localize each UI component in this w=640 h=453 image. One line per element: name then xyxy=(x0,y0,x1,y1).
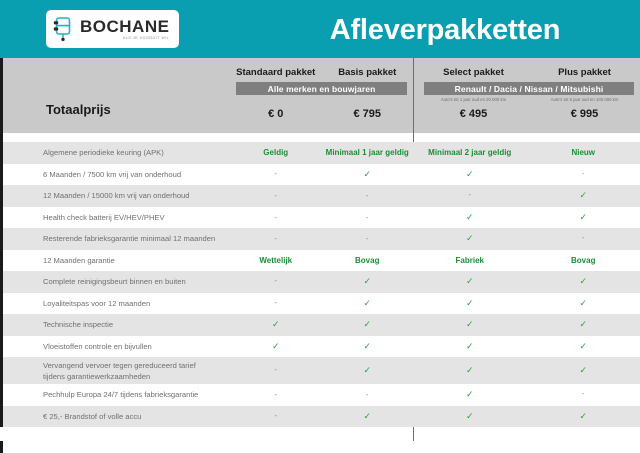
cell-plus: ✓ xyxy=(527,190,640,201)
table-row: Loyaliteitspas voor 12 maanden-✓✓✓ xyxy=(0,293,640,315)
left-edge-accent xyxy=(0,314,3,336)
package-subs-right: Auto's tot 1 jaar oud en 20.000 km Auto'… xyxy=(418,97,640,102)
bochane-logo-icon xyxy=(53,16,76,42)
package-name-standaard: Standaard pakket xyxy=(230,67,322,78)
table-row: 12 Maanden / 15000 km vrij van onderhoud… xyxy=(0,185,640,207)
cell-select: ✓ xyxy=(413,341,527,352)
cell-group: -✓ xyxy=(230,411,413,422)
table-row: Resterende fabrieksgarantie minimaal 12 … xyxy=(0,228,640,250)
cell-standaard: - xyxy=(230,234,322,243)
cell-select: ✓ xyxy=(413,212,527,223)
cell-basis: Bovag xyxy=(322,256,414,265)
logo-wordmark: BOCHANE xyxy=(80,18,169,35)
package-group-left: Standaard pakket Basis pakket Alle merke… xyxy=(230,58,413,133)
cell-group: ✓✓ xyxy=(413,212,640,223)
cell-group: WettelijkBovag xyxy=(230,256,413,265)
cell-select: ✓ xyxy=(413,319,527,330)
package-names-left: Standaard pakket Basis pakket xyxy=(230,67,413,78)
left-edge-accent xyxy=(0,336,3,358)
cell-group: ✓✓ xyxy=(413,276,640,287)
cell-group: ✓✓ xyxy=(413,411,640,422)
table-row: Vloeistoffen controle en bijvullen✓✓✓✓ xyxy=(0,336,640,358)
cell-group: -✓ xyxy=(230,365,413,376)
cell-standaard: - xyxy=(230,390,322,399)
cell-group: -- xyxy=(230,234,413,243)
feature-label: Resterende fabrieksgarantie minimaal 12 … xyxy=(0,233,230,244)
table-row: € 25,- Brandstof of volle accu-✓✓✓ xyxy=(0,406,640,428)
cell-group: ✓✓ xyxy=(230,341,413,352)
page-title: Afleverpakketten xyxy=(270,11,620,49)
left-edge-accent xyxy=(0,228,3,250)
cell-standaard: - xyxy=(230,298,322,309)
cell-standaard: Wettelijk xyxy=(230,256,322,265)
feature-label: Loyaliteitspas voor 12 maanden xyxy=(0,298,230,309)
cell-standaard: ✓ xyxy=(230,341,322,352)
left-edge-accent xyxy=(0,185,3,207)
package-badge-right: Renault / Dacia / Nissan / Mitsubishi xyxy=(424,82,634,95)
left-edge-accent xyxy=(0,293,3,315)
table-row: 6 Maanden / 7500 km vrij van onderhoud-✓… xyxy=(0,164,640,186)
cell-group: ✓✓ xyxy=(413,365,640,376)
cell-select: Minimaal 2 jaar geldig xyxy=(413,148,527,157)
feature-label: Vloeistoffen controle en bijvullen xyxy=(0,341,230,352)
cell-basis: - xyxy=(322,191,414,200)
cell-plus: Nieuw xyxy=(527,148,640,157)
package-prices-right: € 495 € 995 xyxy=(418,108,640,120)
table-row: Complete reinigingsbeurt binnen en buite… xyxy=(0,271,640,293)
feature-label: 6 Maanden / 7500 km vrij van onderhoud xyxy=(0,169,230,180)
cell-basis: ✓ xyxy=(322,341,414,352)
cell-basis: ✓ xyxy=(322,319,414,330)
cell-plus: - xyxy=(527,233,640,244)
feature-label: 12 Maanden / 15000 km vrij van onderhoud xyxy=(0,190,230,201)
feature-label: € 25,- Brandstof of volle accu xyxy=(0,411,230,422)
cell-standaard: - xyxy=(230,213,322,222)
package-price-plus: € 995 xyxy=(529,108,640,120)
cell-basis: ✓ xyxy=(322,169,414,180)
cell-standaard: - xyxy=(230,191,322,200)
feature-label: Pechhulp Europa 24/7 tijdens fabrieksgar… xyxy=(0,389,230,400)
header-table-spacer xyxy=(0,133,640,142)
cell-standaard: Geldig xyxy=(230,148,322,157)
left-edge-accent xyxy=(0,142,3,164)
package-price-standaard: € 0 xyxy=(230,108,322,120)
features-table: Algemene periodieke keuring (APK)GeldigM… xyxy=(0,142,640,427)
total-price-label: Totaalprijs xyxy=(46,102,111,117)
bochane-logo[interactable]: BOCHANE ALS JE VOORUIT WIL xyxy=(46,10,179,48)
cell-select: ✓ xyxy=(413,298,527,309)
cell-basis: ✓ xyxy=(322,298,414,309)
left-edge-accent xyxy=(0,441,3,453)
feature-label: 12 Maanden garantie xyxy=(0,255,230,266)
cell-group: -- xyxy=(230,390,413,399)
package-price-select: € 495 xyxy=(418,108,529,120)
cell-group: -✓ xyxy=(230,169,413,180)
left-edge-accent xyxy=(0,357,3,384)
package-name-select: Select pakket xyxy=(418,67,529,78)
left-edge-accent xyxy=(0,133,3,142)
cell-basis: Minimaal 1 jaar geldig xyxy=(322,148,414,157)
cell-select: ✓ xyxy=(413,233,527,244)
cell-group: GeldigMinimaal 1 jaar geldig xyxy=(230,148,413,157)
feature-label: Health check batterij EV/HEV/PHEV xyxy=(0,212,230,223)
package-badge-left: Alle merken en bouwjaren xyxy=(236,82,407,95)
cell-plus: ✓ xyxy=(527,276,640,287)
cell-plus: - xyxy=(527,169,640,180)
table-row: 12 Maanden garantieWettelijkBovagFabriek… xyxy=(0,250,640,272)
cell-basis: ✓ xyxy=(322,411,414,422)
cell-select: ✓ xyxy=(413,365,527,376)
cell-group: -- xyxy=(230,191,413,200)
table-bottom-bar xyxy=(0,441,640,453)
page-header: BOCHANE ALS JE VOORUIT WIL Afleverpakket… xyxy=(0,0,640,58)
cell-group: ✓✓ xyxy=(413,298,640,309)
left-edge-accent xyxy=(0,58,3,133)
cell-group: ✓- xyxy=(413,389,640,400)
cell-standaard: - xyxy=(230,169,322,180)
cell-standaard: - xyxy=(230,365,322,376)
left-edge-accent xyxy=(0,384,3,406)
feature-label-line2: tijdens garantiewerkzaamheden xyxy=(43,371,230,382)
cell-standaard: - xyxy=(230,411,322,422)
cell-group: ✓- xyxy=(413,233,640,244)
cell-select: ✓ xyxy=(413,411,527,422)
feature-label: Vervangend vervoer tegen gereduceerd tar… xyxy=(0,360,230,382)
cell-plus: Bovag xyxy=(527,256,640,265)
cell-basis: - xyxy=(322,390,414,399)
cell-basis: ✓ xyxy=(322,276,414,287)
package-name-plus: Plus pakket xyxy=(529,67,640,78)
cell-group: ✓- xyxy=(413,169,640,180)
cell-plus: ✓ xyxy=(527,319,640,330)
cell-group: -✓ xyxy=(230,276,413,287)
cell-standaard: ✓ xyxy=(230,319,322,330)
cell-group: -✓ xyxy=(230,298,413,309)
cell-group: ✓✓ xyxy=(413,341,640,352)
package-names-right: Select pakket Plus pakket xyxy=(418,67,640,78)
table-row: Pechhulp Europa 24/7 tijdens fabrieksgar… xyxy=(0,384,640,406)
feature-label: Technische inspectie xyxy=(0,319,230,330)
cell-plus: ✓ xyxy=(527,341,640,352)
logo-tagline: ALS JE VOORUIT WIL xyxy=(123,37,170,41)
cell-group: ✓✓ xyxy=(230,319,413,330)
left-edge-accent xyxy=(0,271,3,293)
cell-plus: ✓ xyxy=(527,411,640,422)
package-prices-left: € 0 € 795 xyxy=(230,108,413,120)
left-edge-accent xyxy=(0,406,3,428)
package-sub-plus: Auto's tot 5 jaar oud en 100.000 km xyxy=(529,97,640,102)
cell-plus: ✓ xyxy=(527,365,640,376)
package-sub-select: Auto's tot 1 jaar oud en 20.000 km xyxy=(418,97,529,102)
left-edge-accent xyxy=(0,164,3,186)
cell-basis: ✓ xyxy=(322,365,414,376)
cell-select: Fabriek xyxy=(413,256,527,265)
cell-plus: ✓ xyxy=(527,212,640,223)
table-row: Vervangend vervoer tegen gereduceerd tar… xyxy=(0,357,640,384)
cell-select: ✓ xyxy=(413,276,527,287)
cell-select: ✓ xyxy=(413,389,527,400)
afleverpakketten-page: BOCHANE ALS JE VOORUIT WIL Afleverpakket… xyxy=(0,0,640,453)
feature-label: Complete reinigingsbeurt binnen en buite… xyxy=(0,276,230,287)
cell-group: Minimaal 2 jaar geldigNieuw xyxy=(413,148,640,157)
cell-standaard: - xyxy=(230,276,322,287)
cell-basis: - xyxy=(322,234,414,243)
cell-group: -- xyxy=(230,213,413,222)
cell-group: -✓ xyxy=(413,190,640,201)
cell-select: ✓ xyxy=(413,169,527,180)
package-group-right: Select pakket Plus pakket Renault / Daci… xyxy=(418,58,640,133)
package-name-basis: Basis pakket xyxy=(322,67,414,78)
package-price-basis: € 795 xyxy=(322,108,414,120)
left-edge-accent xyxy=(0,207,3,229)
cell-group: FabriekBovag xyxy=(413,256,640,265)
table-row: Health check batterij EV/HEV/PHEV--✓✓ xyxy=(0,207,640,229)
cell-plus: ✓ xyxy=(527,298,640,309)
table-row: Algemene periodieke keuring (APK)GeldigM… xyxy=(0,142,640,164)
feature-label: Algemene periodieke keuring (APK) xyxy=(0,147,230,158)
table-row: Technische inspectie✓✓✓✓ xyxy=(0,314,640,336)
cell-group: ✓✓ xyxy=(413,319,640,330)
cell-basis: - xyxy=(322,213,414,222)
left-edge-accent xyxy=(0,250,3,272)
cell-plus: - xyxy=(527,389,640,400)
cell-select: - xyxy=(413,190,527,201)
